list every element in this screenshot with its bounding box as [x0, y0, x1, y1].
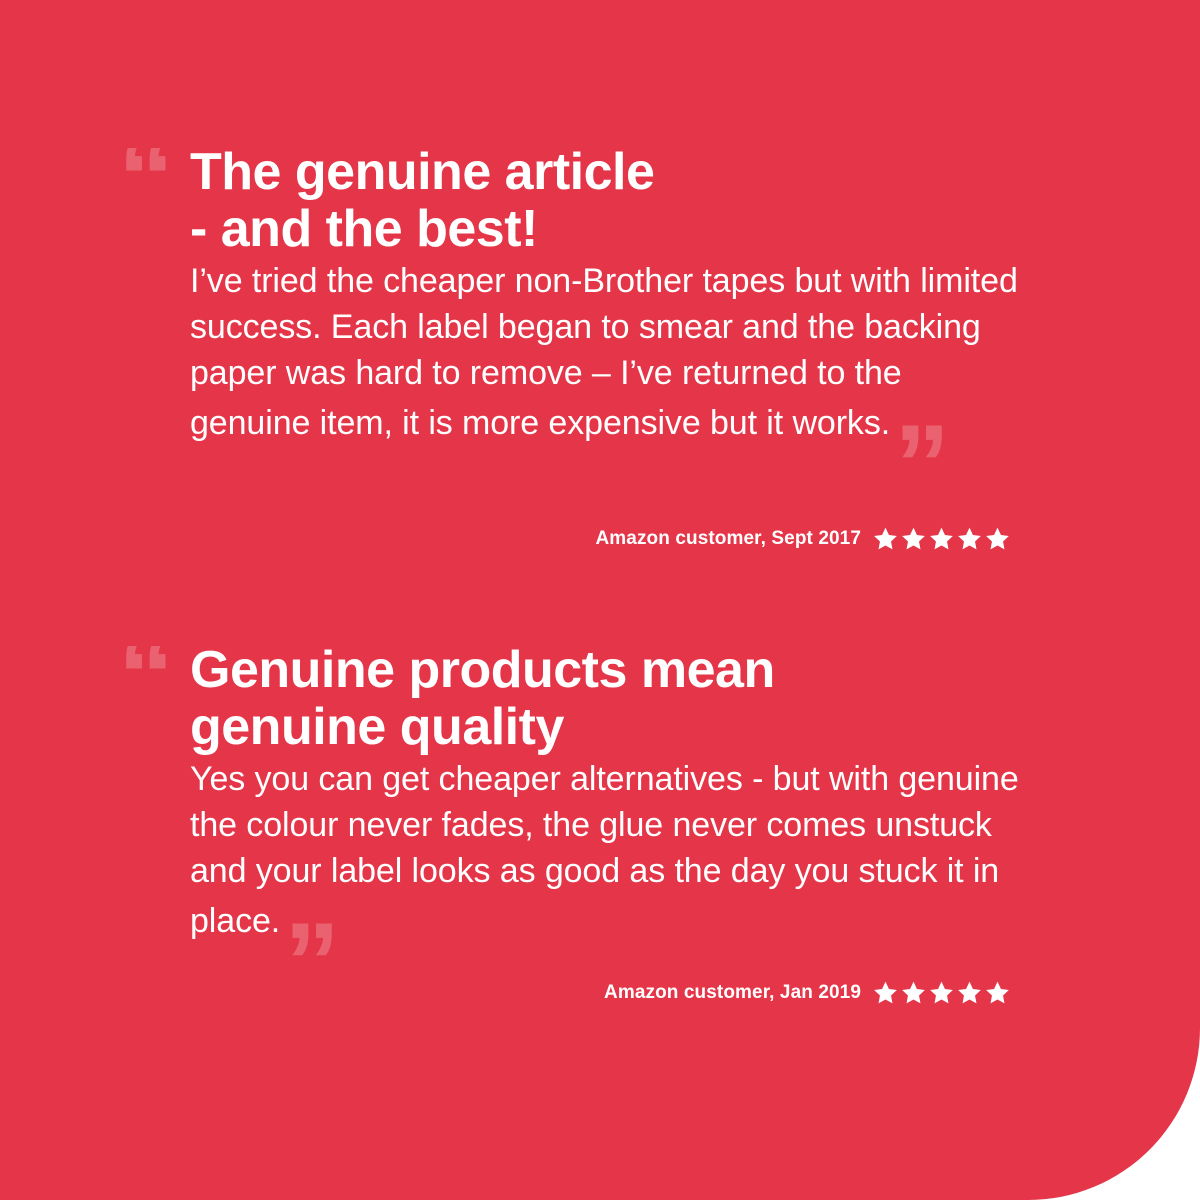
star-icon [901, 980, 926, 1005]
quote-open-glyph: “ [120, 148, 180, 210]
star-icon [985, 526, 1010, 551]
testimonial-1-body: The genuine article - and the best! I’ve… [190, 144, 1020, 446]
testimonial-1-rating-stars [873, 526, 1010, 551]
star-icon [985, 980, 1010, 1005]
testimonial-1-heading: The genuine article - and the best! [190, 144, 1020, 258]
star-icon [957, 980, 982, 1005]
quote-open-glyph: “ [120, 646, 180, 708]
testimonial-2-body: Genuine products mean genuine quality Ye… [190, 642, 1020, 944]
testimonial-2-attribution-label: Amazon customer, Jan 2019 [604, 982, 861, 1004]
star-icon [957, 526, 982, 551]
testimonial-2-text-wrap: Yes you can get cheaper alternatives - b… [190, 756, 1020, 944]
review-card-canvas: “ The genuine article - and the best! I’… [0, 0, 1200, 1200]
star-icon [929, 980, 954, 1005]
testimonial-2: “ Genuine products mean genuine quality … [120, 642, 1020, 944]
star-icon [873, 980, 898, 1005]
quote-open-icon: “ [120, 148, 180, 210]
quote-open-icon: “ [120, 646, 180, 708]
testimonial-2-heading: Genuine products mean genuine quality [190, 642, 1020, 756]
testimonial-1-attribution-label: Amazon customer, Sept 2017 [595, 528, 861, 550]
testimonial-2-attribution: Amazon customer, Jan 2019 [604, 980, 1010, 1005]
testimonial-2-rating-stars [873, 980, 1010, 1005]
testimonial-1-text-wrap: I’ve tried the cheaper non-Brother tapes… [190, 258, 1020, 446]
star-icon [929, 526, 954, 551]
testimonial-1-attribution: Amazon customer, Sept 2017 [595, 526, 1010, 551]
testimonials-container: “ The genuine article - and the best! I’… [0, 0, 1200, 1200]
star-icon [901, 526, 926, 551]
testimonial-1-text: I’ve tried the cheaper non-Brother tapes… [190, 262, 1018, 442]
star-icon [873, 526, 898, 551]
testimonial-1: “ The genuine article - and the best! I’… [120, 144, 1020, 446]
